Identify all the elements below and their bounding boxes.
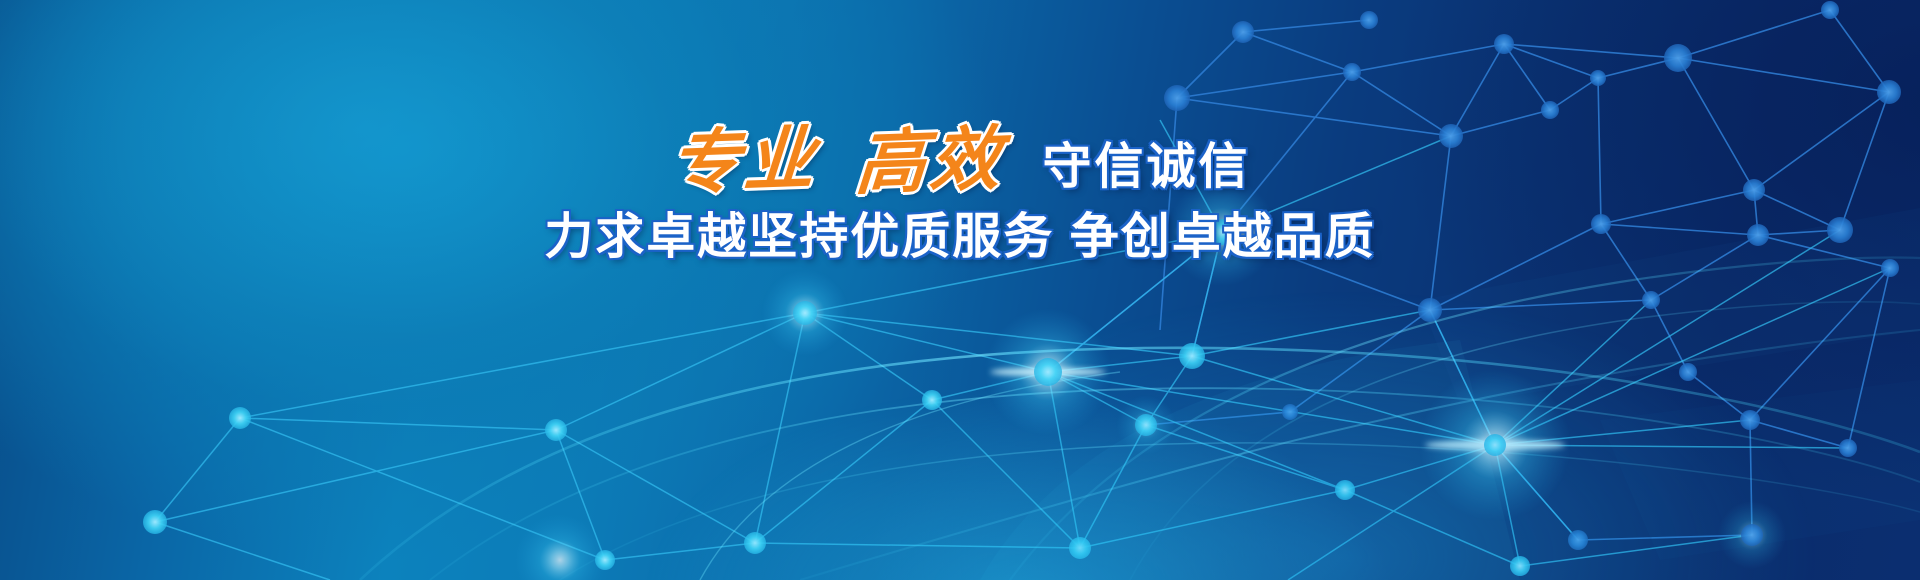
promotional-banner: 专业 高效 守信诚信 力求卓越坚持优质服务 争创卓越品质 [0,0,1920,580]
background-glow-bottom [0,0,1920,580]
